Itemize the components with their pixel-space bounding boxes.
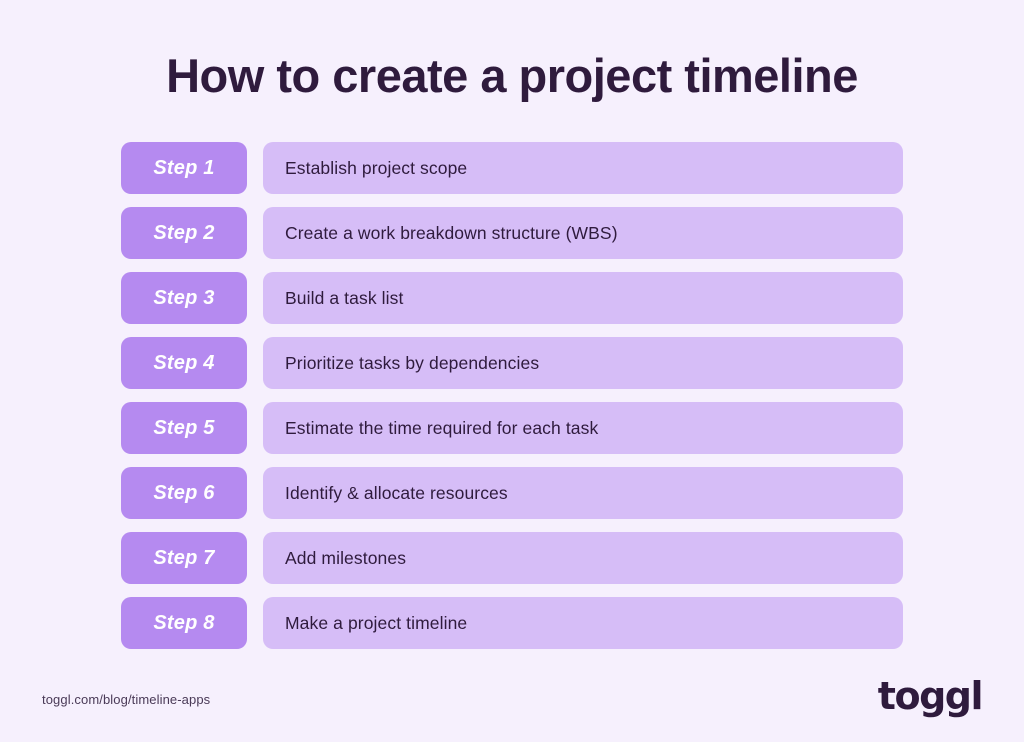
step-badge-2: Step 2 (121, 207, 247, 259)
list-item: Step 4 Prioritize tasks by dependencies (121, 337, 903, 389)
step-badge-5: Step 5 (121, 402, 247, 454)
infographic-page: How to create a project timeline Step 1 … (0, 0, 1024, 742)
step-text-8: Make a project timeline (263, 597, 903, 649)
list-item: Step 6 Identify & allocate resources (121, 467, 903, 519)
list-item: Step 7 Add milestones (121, 532, 903, 584)
step-badge-7: Step 7 (121, 532, 247, 584)
step-badge-8: Step 8 (121, 597, 247, 649)
page-title: How to create a project timeline (0, 52, 1024, 99)
step-text-6: Identify & allocate resources (263, 467, 903, 519)
step-badge-1: Step 1 (121, 142, 247, 194)
list-item: Step 5 Estimate the time required for ea… (121, 402, 903, 454)
list-item: Step 2 Create a work breakdown structure… (121, 207, 903, 259)
list-item: Step 3 Build a task list (121, 272, 903, 324)
step-text-1: Establish project scope (263, 142, 903, 194)
toggl-logo: toggl (878, 677, 982, 715)
footer: toggl.com/blog/timeline-apps toggl (0, 672, 1024, 742)
step-badge-3: Step 3 (121, 272, 247, 324)
source-url: toggl.com/blog/timeline-apps (42, 692, 210, 707)
steps-list: Step 1 Establish project scope Step 2 Cr… (121, 142, 903, 649)
step-text-5: Estimate the time required for each task (263, 402, 903, 454)
step-text-3: Build a task list (263, 272, 903, 324)
step-badge-6: Step 6 (121, 467, 247, 519)
list-item: Step 1 Establish project scope (121, 142, 903, 194)
list-item: Step 8 Make a project timeline (121, 597, 903, 649)
step-text-2: Create a work breakdown structure (WBS) (263, 207, 903, 259)
step-text-7: Add milestones (263, 532, 903, 584)
step-badge-4: Step 4 (121, 337, 247, 389)
step-text-4: Prioritize tasks by dependencies (263, 337, 903, 389)
